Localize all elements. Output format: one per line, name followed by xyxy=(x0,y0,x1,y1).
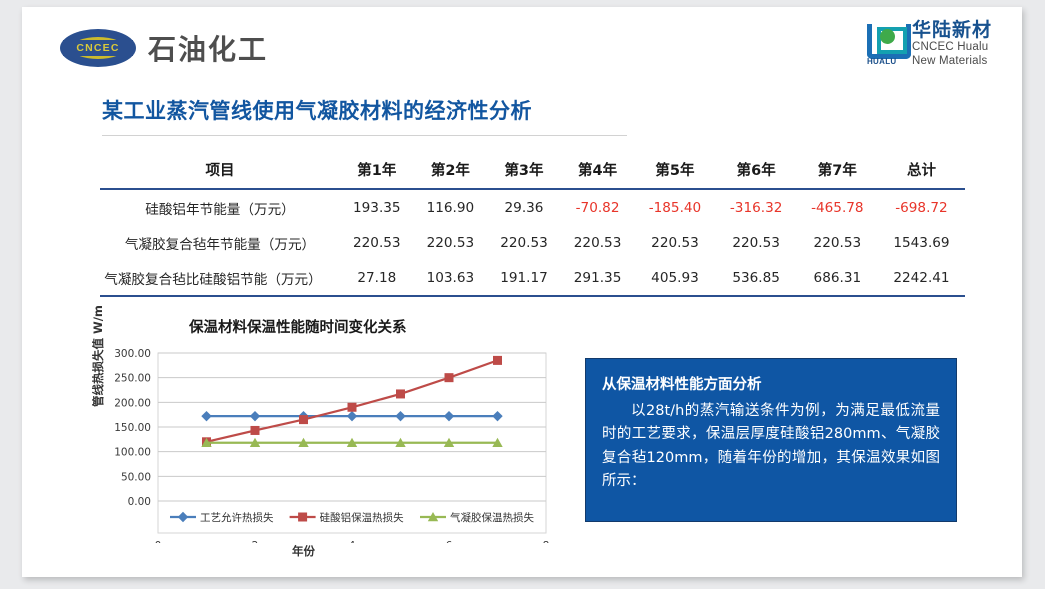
cell-value: 103.63 xyxy=(414,260,488,296)
cell-value: 1543.69 xyxy=(878,225,965,260)
slide-canvas: CNCEC 石油化工 HUALU 华陆新材 CNCEC Hualu New Ma… xyxy=(22,7,1022,577)
cell-value: -70.82 xyxy=(561,189,635,225)
cell-value: 686.31 xyxy=(797,260,878,296)
analysis-panel-body: 以28t/h的蒸汽输送条件为例，为满足最低流量时的工艺要求，保温层厚度硅酸铝28… xyxy=(602,400,940,494)
svg-text:2: 2 xyxy=(252,540,259,543)
cell-value: 29.36 xyxy=(487,189,561,225)
cell-value: 220.53 xyxy=(561,225,635,260)
svg-text:硅酸铝保温热损失: 硅酸铝保温热损失 xyxy=(320,511,404,524)
chart-plot-area: 0.0050.00100.00150.00200.00250.00300.000… xyxy=(96,343,552,543)
svg-text:50.00: 50.00 xyxy=(121,471,151,483)
title-divider xyxy=(102,135,627,136)
svg-text:6: 6 xyxy=(446,540,453,543)
chart-x-axis-label: 年份 xyxy=(292,543,315,559)
table-row: 气凝胶复合毡年节能量（万元） 220.53 220.53 220.53 220.… xyxy=(100,225,965,260)
cell-value: -698.72 xyxy=(878,189,965,225)
slide-header: CNCEC 石油化工 HUALU 华陆新材 CNCEC Hualu New Ma… xyxy=(22,7,1022,77)
cell-value: 191.17 xyxy=(487,260,561,296)
svg-text:100.00: 100.00 xyxy=(114,447,151,459)
cell-value: 220.53 xyxy=(716,225,797,260)
col-header-total: 总计 xyxy=(878,150,965,189)
cell-value: 291.35 xyxy=(561,260,635,296)
cell-value: 193.35 xyxy=(340,189,414,225)
svg-text:200.00: 200.00 xyxy=(114,397,151,409)
hualu-mark-icon: HUALU xyxy=(867,24,905,66)
col-header-year-4: 第4年 xyxy=(561,150,635,189)
cell-value: 220.53 xyxy=(340,225,414,260)
cell-value: -465.78 xyxy=(797,189,878,225)
cell-value: -185.40 xyxy=(634,189,715,225)
economics-table: 项目 第1年 第2年 第3年 第4年 第5年 第6年 第7年 总计 硅酸铝年节能… xyxy=(100,150,965,297)
col-header-year-1: 第1年 xyxy=(340,150,414,189)
page-title: 某工业蒸汽管线使用气凝胶材料的经济性分析 xyxy=(102,95,532,125)
svg-text:300.00: 300.00 xyxy=(114,348,151,360)
row-label: 气凝胶复合毡年节能量（万元） xyxy=(100,225,340,260)
col-header-year-3: 第3年 xyxy=(487,150,561,189)
table-header-row: 项目 第1年 第2年 第3年 第4年 第5年 第6年 第7年 总计 xyxy=(100,150,965,189)
cell-value: 536.85 xyxy=(716,260,797,296)
svg-text:气凝胶保温热损失: 气凝胶保温热损失 xyxy=(450,511,534,524)
page-title-text: 某工业蒸汽管线使用气凝胶材料的经济性分析 xyxy=(102,95,532,125)
cell-value: 405.93 xyxy=(634,260,715,296)
table-body: 硅酸铝年节能量（万元） 193.35 116.90 29.36 -70.82 -… xyxy=(100,189,965,296)
row-label: 气凝胶复合毡比硅酸铝节能（万元） xyxy=(100,260,340,296)
line-chart: 管线热损失值 W/m 年份 0.0050.00100.00150.00200.0… xyxy=(96,343,552,558)
cell-value: 220.53 xyxy=(797,225,878,260)
cell-value: 220.53 xyxy=(634,225,715,260)
analysis-panel: 从保温材料性能方面分析 以28t/h的蒸汽输送条件为例，为满足最低流量时的工艺要… xyxy=(585,358,957,522)
hualu-logo: HUALU 华陆新材 CNCEC Hualu New Materials xyxy=(867,21,992,68)
chart-y-axis-label: 管线热损失值 W/m xyxy=(90,305,106,407)
row-label: 硅酸铝年节能量（万元） xyxy=(100,189,340,225)
cell-value: 220.53 xyxy=(487,225,561,260)
cncec-badge-text: CNCEC xyxy=(63,40,133,56)
col-header-year-5: 第5年 xyxy=(634,150,715,189)
hualu-wordmark: 华陆新材 CNCEC Hualu New Materials xyxy=(912,21,992,68)
cncec-company-name: 石油化工 xyxy=(148,28,268,68)
svg-text:250.00: 250.00 xyxy=(114,373,151,385)
cncec-globe-icon: CNCEC xyxy=(60,29,136,67)
svg-text:4: 4 xyxy=(349,540,356,543)
table-row: 硅酸铝年节能量（万元） 193.35 116.90 29.36 -70.82 -… xyxy=(100,189,965,225)
analysis-panel-heading: 从保温材料性能方面分析 xyxy=(602,373,940,394)
cell-value: 2242.41 xyxy=(878,260,965,296)
hualu-name-en-2: New Materials xyxy=(912,54,992,68)
svg-text:150.00: 150.00 xyxy=(114,422,151,434)
svg-text:8: 8 xyxy=(543,540,550,543)
cell-value: 220.53 xyxy=(414,225,488,260)
chart-title: 保温材料保温性能随时间变化关系 xyxy=(189,316,407,337)
hualu-mark-caption: HUALU xyxy=(867,57,897,66)
svg-text:0: 0 xyxy=(155,540,162,543)
svg-text:0.00: 0.00 xyxy=(128,496,151,508)
cell-value: 27.18 xyxy=(340,260,414,296)
cell-value: 116.90 xyxy=(414,189,488,225)
hualu-name-cn: 华陆新材 xyxy=(912,21,992,40)
cncec-logo: CNCEC 石油化工 xyxy=(60,28,268,68)
svg-text:工艺允许热损失: 工艺允许热损失 xyxy=(200,511,274,524)
col-header-year-7: 第7年 xyxy=(797,150,878,189)
cell-value: -316.32 xyxy=(716,189,797,225)
col-header-year-6: 第6年 xyxy=(716,150,797,189)
col-header-item: 项目 xyxy=(100,150,340,189)
hualu-name-en-1: CNCEC Hualu xyxy=(912,40,992,54)
table-row: 气凝胶复合毡比硅酸铝节能（万元） 27.18 103.63 191.17 291… xyxy=(100,260,965,296)
col-header-year-2: 第2年 xyxy=(414,150,488,189)
table-header: 项目 第1年 第2年 第3年 第4年 第5年 第6年 第7年 总计 xyxy=(100,150,965,189)
